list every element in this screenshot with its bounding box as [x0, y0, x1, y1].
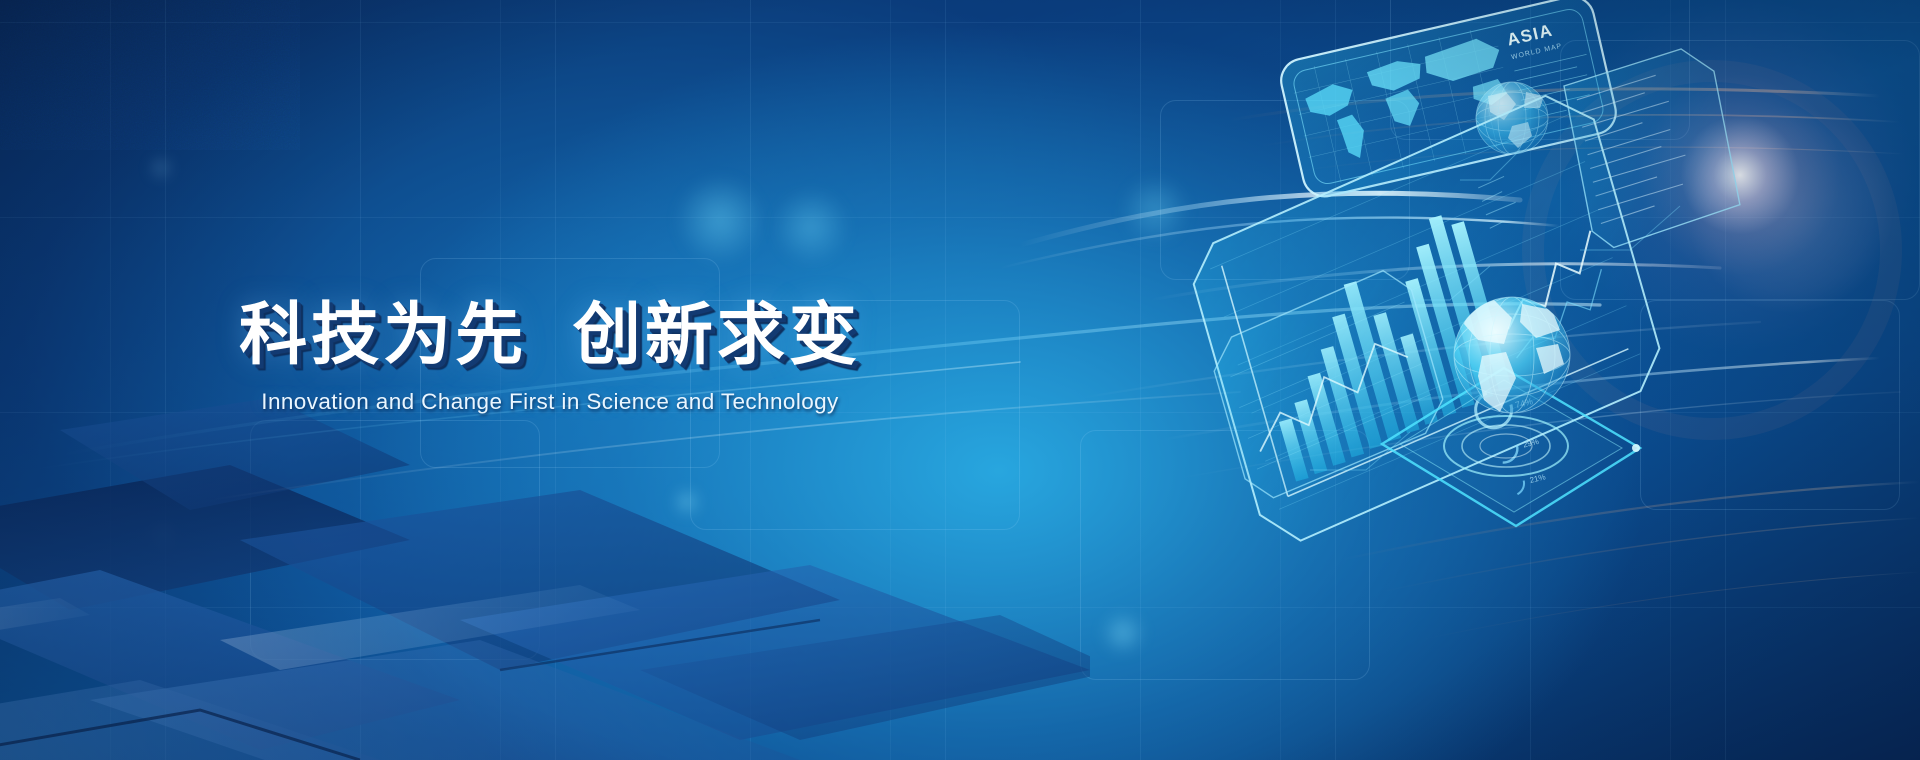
noise-texture-overlay: [0, 0, 300, 150]
lens-flare-core: [1530, 0, 1920, 385]
svg-text:29%: 29%: [1522, 437, 1540, 450]
bokeh-dot-4: [1100, 610, 1146, 656]
hud-line-chart: [1488, 231, 1610, 329]
hud-data-panel: [1561, 44, 1743, 251]
bokeh-dot-7: [150, 520, 176, 546]
tech-hud-graphic: ASIA WORLD MAP: [1160, 0, 1920, 620]
hero-banner: ASIA WORLD MAP: [0, 0, 1920, 760]
hud-globe-small: [1476, 82, 1548, 154]
page-subtitle: Innovation and Change First in Science a…: [0, 389, 1100, 415]
hud-connector-lines: [1310, 150, 1680, 470]
hud-secondary-panel: [1200, 265, 1456, 504]
svg-text:74%: 74%: [1514, 396, 1534, 410]
hud-bar-chart: [1237, 210, 1521, 482]
bokeh-dot-1: [675, 175, 765, 265]
outline-decoration-2: [1560, 40, 1920, 300]
outline-decoration-1: [1390, 0, 1690, 140]
page-title: 科技为先 创新求变: [0, 300, 1100, 371]
outline-decoration-6: [250, 420, 540, 660]
outline-decoration-5: [1080, 430, 1370, 680]
outline-decoration-8: [1160, 100, 1410, 280]
hud-map-label: ASIA: [1505, 21, 1555, 50]
bokeh-dot-2: [772, 188, 850, 266]
lens-flare-ring: [1522, 60, 1902, 440]
hero-text-block: 科技为先 创新求变 Innovation and Change First in…: [0, 300, 1100, 415]
hud-map-sublabel: WORLD MAP: [1511, 43, 1563, 62]
outline-decoration-7: [1640, 300, 1900, 510]
bokeh-dot-5: [672, 487, 702, 517]
lens-flare-halo: [1685, 105, 1895, 315]
isometric-plates-decoration: [0, 370, 1090, 760]
bokeh-dot-6: [148, 155, 174, 181]
hud-globe-radar: [1382, 297, 1640, 526]
hud-pie-readouts: 74% 29% 21%: [1472, 383, 1554, 500]
hud-map-panel: ASIA WORLD MAP: [1277, 0, 1620, 201]
hud-data-lines: [1575, 73, 1695, 224]
hud-chart-panel: [1171, 85, 1684, 550]
bokeh-dot-3: [1120, 175, 1190, 245]
svg-text:21%: 21%: [1529, 472, 1547, 485]
